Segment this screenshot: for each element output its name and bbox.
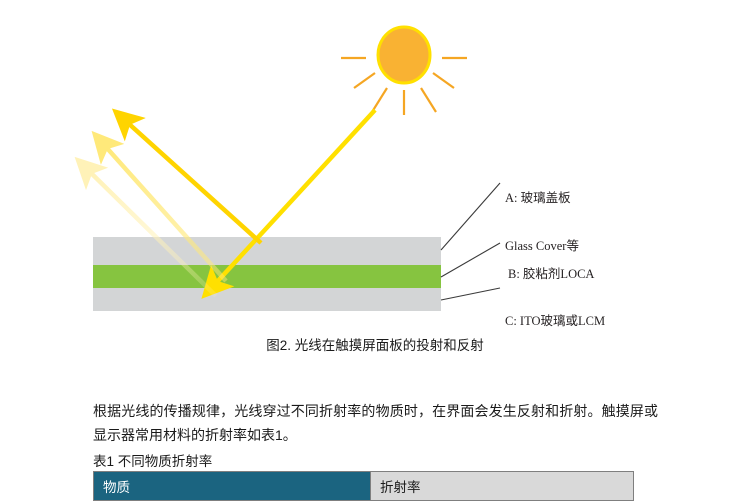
reflected-ray-strong — [128, 123, 261, 243]
sun-ray-lower-left — [372, 88, 387, 112]
loca-adhesive-layer — [93, 265, 441, 288]
refractive-index-table: 物质 折射率 — [93, 471, 634, 501]
table-header: 物质 折射率 — [94, 472, 634, 501]
body-paragraph: 根据光线的传播规律，光线穿过不同折射率的物质时，在界面会发生反射和折射。触摸屏或… — [93, 399, 658, 447]
callout-a-line1: A: 玻璃盖板 — [505, 190, 579, 206]
table-title: 表1 不同物质折射率 — [93, 450, 212, 470]
leader-line-c — [441, 288, 500, 300]
diagram-canvas — [0, 0, 750, 325]
figure-caption: 图2. 光线在触摸屏面板的投射和反射 — [0, 334, 750, 354]
sun-disc — [378, 27, 430, 83]
table-header-row: 物质 折射率 — [94, 472, 634, 501]
table-header-substance: 物质 — [94, 472, 371, 501]
glass-cover-layer — [93, 237, 441, 265]
callout-leader-lines — [441, 183, 500, 300]
figure-light-reflection-diagram: A: 玻璃盖板 Glass Cover等 B: 胶粘剂LOCA C: ITO玻璃… — [0, 0, 750, 325]
sun-ray-upper-left — [354, 73, 375, 88]
sun-ray-lower-right — [421, 88, 436, 112]
panel-stack — [93, 237, 441, 311]
document-page: A: 玻璃盖板 Glass Cover等 B: 胶粘剂LOCA C: ITO玻璃… — [0, 0, 750, 500]
callout-b-line1: B: 胶粘剂LOCA — [508, 266, 594, 282]
ito-glass-lcm-layer — [93, 288, 441, 311]
table-header-refractive-index: 折射率 — [371, 472, 634, 501]
sun-ray-upper-right — [433, 73, 454, 88]
leader-line-b — [441, 243, 500, 277]
callout-c-line1: C: ITO玻璃或LCM — [505, 313, 605, 329]
leader-line-a — [441, 183, 500, 250]
sun-group — [341, 27, 467, 115]
